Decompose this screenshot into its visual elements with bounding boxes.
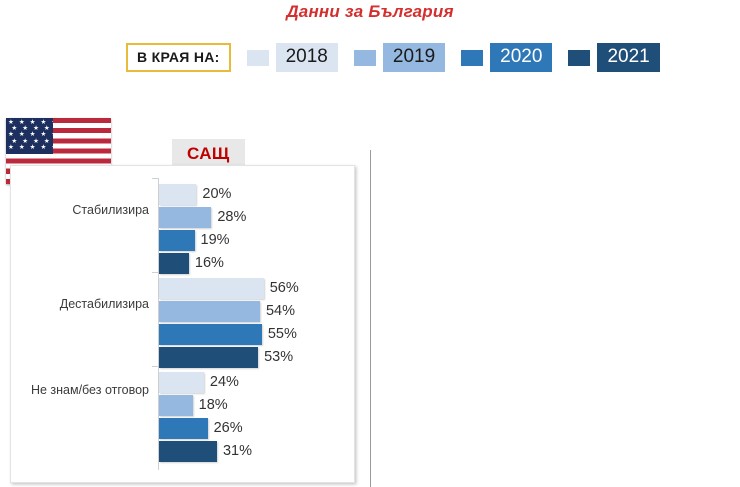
bar-2021[interactable]: [159, 347, 258, 368]
bar-row: 54%: [159, 301, 299, 322]
category-label: Дестабилизира: [15, 297, 149, 312]
bar-row: 53%: [159, 347, 299, 368]
bar-row: 56%: [159, 278, 299, 299]
legend-label-2019: 2019: [383, 43, 445, 72]
bar-row: 26%: [159, 418, 252, 439]
legend-label-2018: 2018: [276, 43, 338, 72]
bar-value-label: 19%: [195, 230, 230, 251]
bar-row: 55%: [159, 324, 299, 345]
bar-stack: 24%18%26%31%: [159, 372, 252, 464]
axis-tick: [152, 272, 158, 273]
legend-entry-2019[interactable]: 2019: [354, 43, 445, 72]
legend: В КРАЯ НА: 2018 2019 2020 2021: [126, 41, 660, 74]
bar-value-label: 16%: [189, 253, 224, 274]
axis-tick: [152, 366, 158, 367]
bar-value-label: 56%: [264, 278, 299, 299]
bar-value-label: 31%: [217, 441, 252, 462]
panel-russia: РУСИЯ Стабилизира43%54%42%30%Дестабилизи…: [370, 112, 740, 487]
bar-2018[interactable]: [159, 372, 204, 393]
usa-flag-canton: ★ ★ ★ ★ ★ ★ ★ ★ ★ ★ ★ ★ ★ ★ ★ ★ ★ ★ ★ ★ …: [6, 118, 53, 154]
legend-title: В КРАЯ НА:: [126, 43, 231, 72]
bar-row: 28%: [159, 207, 246, 228]
legend-entry-2021[interactable]: 2021: [568, 43, 659, 72]
page-title: Данни за България: [0, 2, 740, 22]
bar-value-label: 24%: [204, 372, 239, 393]
legend-entry-2018[interactable]: 2018: [247, 43, 338, 72]
bar-row: 19%: [159, 230, 246, 251]
panel-usa: ★ ★ ★ ★ ★ ★ ★ ★ ★ ★ ★ ★ ★ ★ ★ ★ ★ ★ ★ ★ …: [0, 112, 370, 487]
category-label: Не знам/без отговор: [15, 383, 149, 398]
bar-2020[interactable]: [159, 324, 262, 345]
bar-row: 16%: [159, 253, 246, 274]
legend-swatch-2021: [568, 50, 590, 66]
legend-label-2020: 2020: [490, 43, 552, 72]
category-label: Стабилизира: [15, 203, 149, 218]
chart-card-usa: Стабилизира20%28%19%16%Дестабилизира56%5…: [10, 165, 355, 483]
bar-2018[interactable]: [159, 278, 264, 299]
legend-swatch-2018: [247, 50, 269, 66]
bar-value-label: 53%: [258, 347, 293, 368]
bar-2020[interactable]: [159, 418, 208, 439]
bar-row: 20%: [159, 184, 246, 205]
bar-2021[interactable]: [159, 253, 189, 274]
bar-value-label: 26%: [208, 418, 243, 439]
bar-2019[interactable]: [159, 207, 211, 228]
usa-flag-stars: ★ ★ ★ ★ ★ ★ ★ ★ ★ ★ ★ ★ ★ ★ ★ ★ ★ ★ ★ ★ …: [6, 118, 53, 154]
bar-row: 24%: [159, 372, 252, 393]
bar-2018[interactable]: [159, 184, 196, 205]
bar-value-label: 20%: [196, 184, 231, 205]
legend-label-2021: 2021: [597, 43, 659, 72]
axis-tick: [152, 178, 158, 179]
bar-stack: 56%54%55%53%: [159, 278, 299, 370]
bar-2020[interactable]: [159, 230, 195, 251]
bar-value-label: 18%: [193, 395, 228, 416]
bar-stack: 20%28%19%16%: [159, 184, 246, 276]
bar-value-label: 55%: [262, 324, 297, 345]
bar-2019[interactable]: [159, 301, 260, 322]
bar-2021[interactable]: [159, 441, 217, 462]
bar-row: 18%: [159, 395, 252, 416]
legend-entry-2020[interactable]: 2020: [461, 43, 552, 72]
bar-value-label: 54%: [260, 301, 295, 322]
bar-2019[interactable]: [159, 395, 193, 416]
legend-swatch-2020: [461, 50, 483, 66]
bar-chart-usa: Стабилизира20%28%19%16%Дестабилизира56%5…: [11, 166, 354, 482]
legend-swatch-2019: [354, 50, 376, 66]
bar-row: 31%: [159, 441, 252, 462]
bar-value-label: 28%: [211, 207, 246, 228]
